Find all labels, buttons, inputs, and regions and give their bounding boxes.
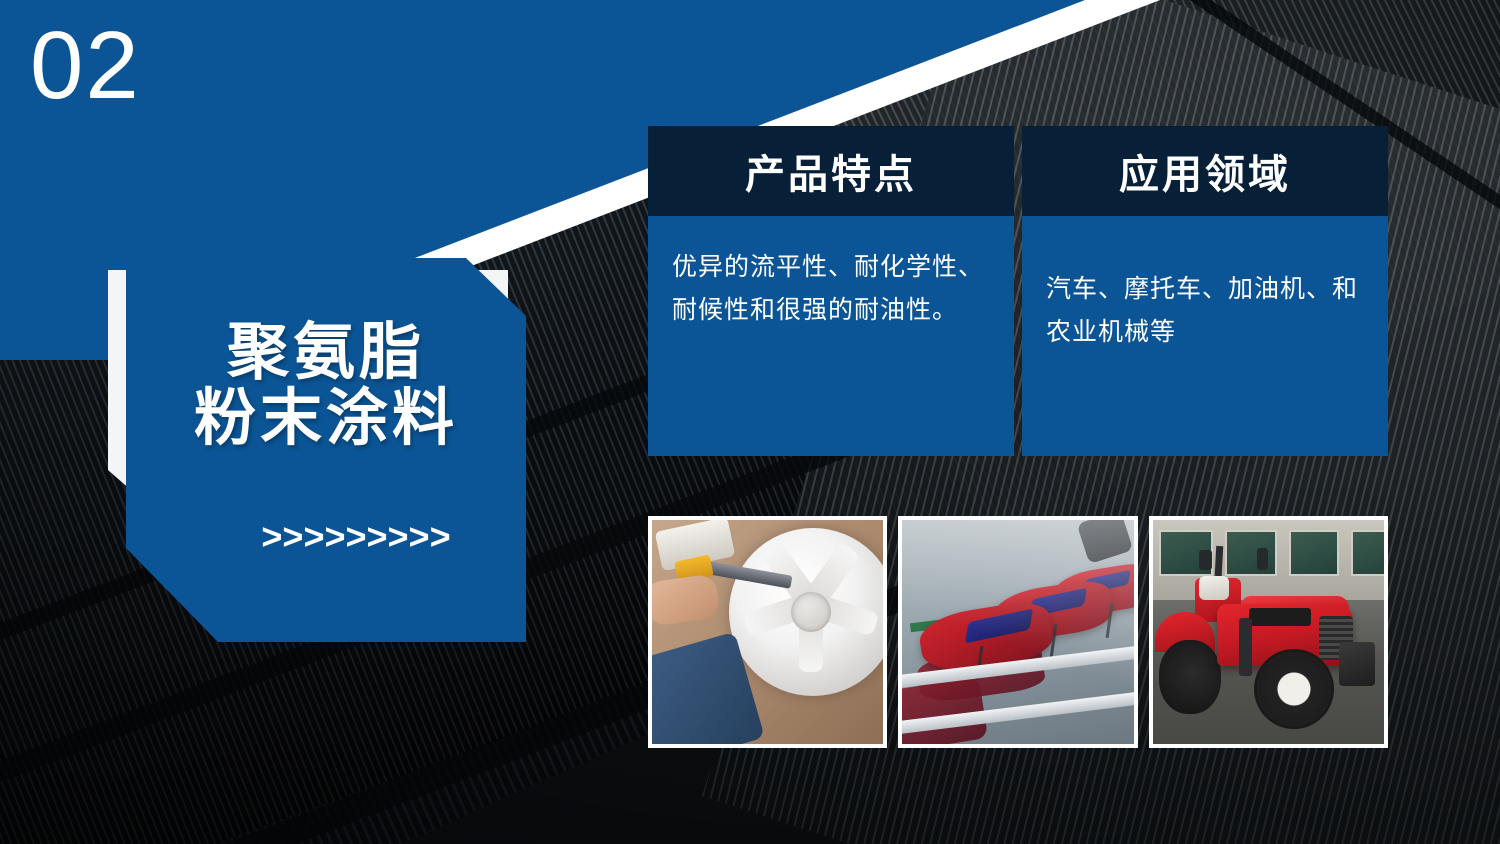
red-tractor-photo [1149, 516, 1388, 748]
title-line-2: 粉末涂料 [126, 386, 526, 452]
panel-body-application-fields: 汽车、摩托车、加油机、和农业机械等 [1022, 216, 1388, 456]
title-card: 聚氨脂 粉末涂料 >>>>>>>>> [108, 258, 528, 668]
panel-application-fields: 应用领域 汽车、摩托车、加油机、和农业机械等 [1022, 126, 1388, 456]
panel-product-features: 产品特点 优异的流平性、耐化学性、耐候性和很强的耐油性。 [648, 126, 1014, 456]
motorcycle-fuel-tanks-coating-line-photo [898, 516, 1137, 748]
panel-body-text: 优异的流平性、耐化学性、耐候性和很强的耐油性。 [672, 246, 990, 332]
panel-body-product-features: 优异的流平性、耐化学性、耐候性和很强的耐油性。 [648, 216, 1014, 456]
panel-heading-text: 产品特点 [745, 142, 917, 200]
slide: 02 聚氨脂 粉末涂料 >>>>>>>>> 产品特点 优异的流平性、耐化学性、耐… [0, 0, 1500, 844]
panel-heading-text: 应用领域 [1119, 142, 1291, 200]
panel-header-product-features: 产品特点 [648, 126, 1014, 216]
section-number: 02 [30, 18, 141, 114]
photo-strip [648, 516, 1388, 748]
chevron-arrows-icon: >>>>>>>>> [126, 516, 526, 558]
panel-header-application-fields: 应用领域 [1022, 126, 1388, 216]
powder-coating-alloy-wheel-photo [648, 516, 887, 748]
content-panels: 产品特点 优异的流平性、耐化学性、耐候性和很强的耐油性。 应用领域 汽车、摩托车… [648, 126, 1388, 456]
title-line-1: 聚氨脂 [126, 320, 526, 386]
panel-body-text: 汽车、摩托车、加油机、和农业机械等 [1046, 268, 1364, 354]
title-card-blue-panel: 聚氨脂 粉末涂料 >>>>>>>>> [126, 258, 526, 642]
